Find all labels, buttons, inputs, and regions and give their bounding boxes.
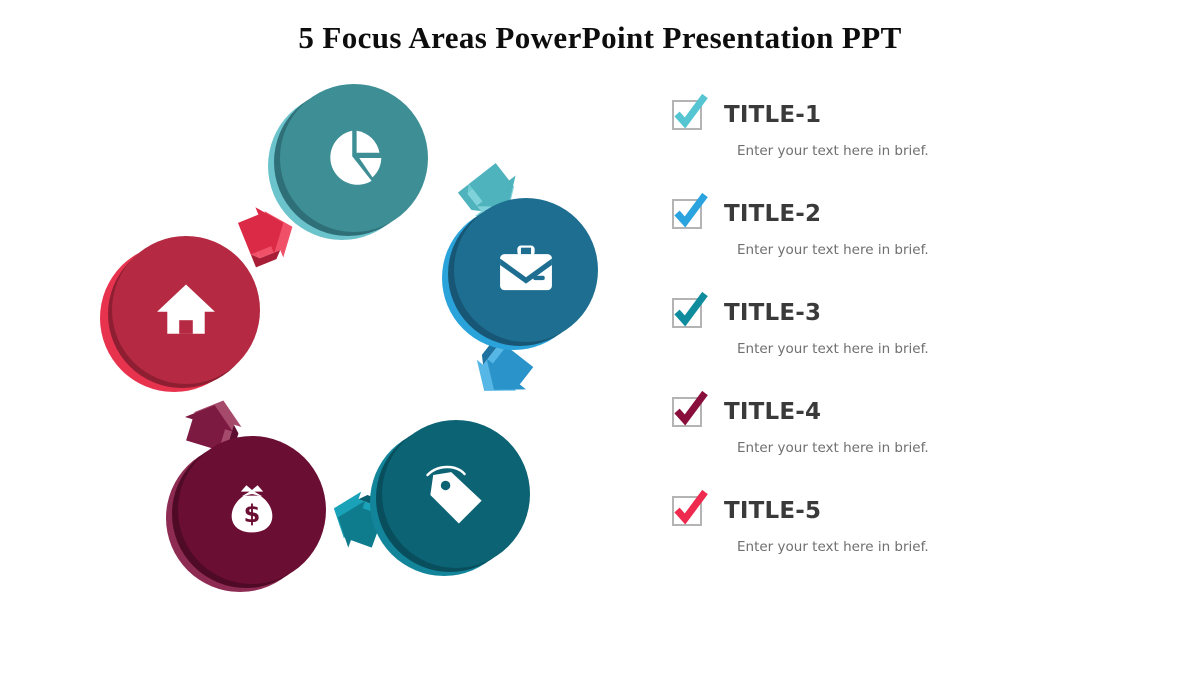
checkbox-1[interactable]	[672, 100, 702, 130]
legend-row: TITLE-4	[672, 392, 1142, 432]
legend-item-4[interactable]: TITLE-4 Enter your text here in brief.	[672, 392, 1142, 474]
cycle-node-4[interactable]: $	[166, 436, 326, 592]
legend-row: TITLE-3	[672, 293, 1142, 333]
legend-title-4: TITLE-4	[724, 399, 821, 425]
checkbox-4[interactable]	[672, 397, 702, 427]
svg-text:$: $	[244, 500, 261, 528]
cycle-node-2[interactable]	[442, 198, 598, 350]
slide-canvas: 5 Focus Areas PowerPoint Presentation PP…	[0, 0, 1200, 675]
legend-row: TITLE-1	[672, 95, 1142, 135]
legend-item-3[interactable]: TITLE-3 Enter your text here in brief.	[672, 293, 1142, 375]
legend-desc-3: Enter your text here in brief.	[737, 341, 1142, 357]
legend-item-5[interactable]: TITLE-5 Enter your text here in brief.	[672, 491, 1142, 573]
cycle-node-5[interactable]	[100, 236, 260, 392]
legend-row: TITLE-2	[672, 194, 1142, 234]
legend-title-5: TITLE-5	[724, 498, 821, 524]
focus-area-legend: TITLE-1 Enter your text here in brief. T…	[672, 95, 1142, 575]
page-title: 5 Focus Areas PowerPoint Presentation PP…	[0, 20, 1200, 56]
checkmark-icon	[669, 488, 711, 530]
checkmark-icon	[669, 92, 711, 134]
legend-title-1: TITLE-1	[724, 102, 821, 128]
cycle-diagram: $	[70, 70, 650, 630]
checkbox-5[interactable]	[672, 496, 702, 526]
legend-item-2[interactable]: TITLE-2 Enter your text here in brief.	[672, 194, 1142, 276]
checkmark-icon	[669, 191, 711, 233]
checkmark-icon	[669, 290, 711, 332]
legend-title-3: TITLE-3	[724, 300, 821, 326]
legend-desc-5: Enter your text here in brief.	[737, 539, 1142, 555]
checkbox-3[interactable]	[672, 298, 702, 328]
legend-title-2: TITLE-2	[724, 201, 821, 227]
legend-desc-2: Enter your text here in brief.	[737, 242, 1142, 258]
cycle-node-1[interactable]	[268, 84, 428, 240]
checkbox-2[interactable]	[672, 199, 702, 229]
cycle-node-3[interactable]	[370, 420, 530, 576]
legend-desc-4: Enter your text here in brief.	[737, 440, 1142, 456]
legend-desc-1: Enter your text here in brief.	[737, 143, 1142, 159]
legend-row: TITLE-5	[672, 491, 1142, 531]
legend-item-1[interactable]: TITLE-1 Enter your text here in brief.	[672, 95, 1142, 177]
checkmark-icon	[669, 389, 711, 431]
